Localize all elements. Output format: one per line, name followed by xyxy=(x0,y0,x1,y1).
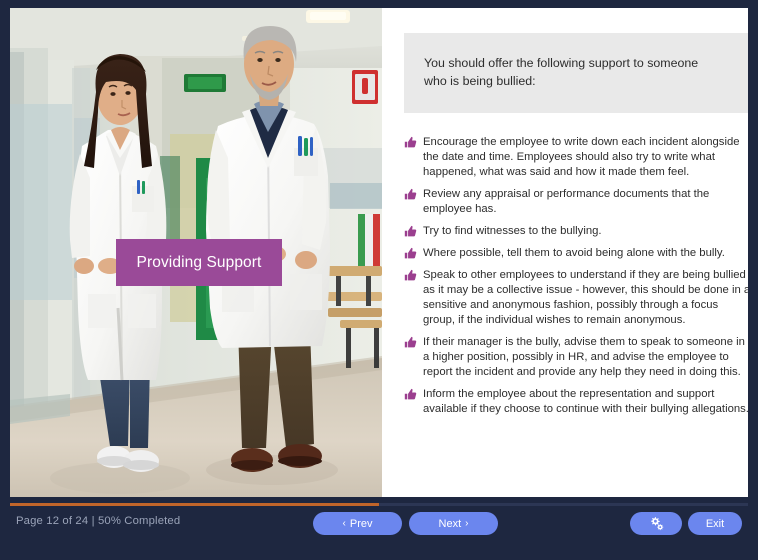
next-button[interactable]: Next › xyxy=(409,512,498,535)
heading-box: You should offer the following support t… xyxy=(404,33,748,113)
heading-text: You should offer the following support t… xyxy=(424,55,724,91)
thumbs-up-icon xyxy=(404,388,417,401)
list-item: Try to find witnesses to the bullying. xyxy=(404,224,748,239)
settings-button[interactable] xyxy=(630,512,682,535)
next-button-label: Next xyxy=(439,518,462,530)
list-item-text: Review any appraisal or performance docu… xyxy=(423,188,709,215)
slide-content: Providing Support You should offer the f… xyxy=(10,8,748,497)
exit-button[interactable]: Exit xyxy=(688,512,742,535)
list-item-text: Speak to other employees to understand i… xyxy=(423,269,748,326)
list-item: Where possible, tell them to avoid being… xyxy=(404,246,748,261)
slide-title-text: Providing Support xyxy=(137,254,262,272)
page-status-text: Page 12 of 24 | 50% Completed xyxy=(16,515,180,527)
thumbs-up-icon xyxy=(404,225,417,238)
exit-button-label: Exit xyxy=(706,518,724,530)
chevron-right-icon: › xyxy=(465,519,468,529)
chevron-left-icon: ‹ xyxy=(343,519,346,529)
list-item-text: Encourage the employee to write down eac… xyxy=(423,136,740,178)
thumbs-up-icon xyxy=(404,269,417,282)
thumbs-up-icon xyxy=(404,336,417,349)
list-item-text: If their manager is the bully, advise th… xyxy=(423,336,745,378)
thumbs-up-icon xyxy=(404,136,417,149)
slide-title-overlay: Providing Support xyxy=(116,239,282,286)
cogs-icon xyxy=(649,516,664,531)
prev-button[interactable]: ‹ Prev xyxy=(313,512,402,535)
list-item-text: Where possible, tell them to avoid being… xyxy=(423,247,725,259)
list-item: Speak to other employees to understand i… xyxy=(404,268,748,328)
list-item: Encourage the employee to write down eac… xyxy=(404,135,748,180)
thumbs-up-icon xyxy=(404,188,417,201)
thumbs-up-icon xyxy=(404,247,417,260)
course-slide: Providing Support You should offer the f… xyxy=(0,0,758,560)
slide-text-panel: You should offer the following support t… xyxy=(382,8,748,497)
prev-button-label: Prev xyxy=(350,518,373,530)
progress-bar-track xyxy=(10,503,748,506)
list-item: If their manager is the bully, advise th… xyxy=(404,335,748,380)
list-item: Review any appraisal or performance docu… xyxy=(404,187,748,217)
list-item-text: Try to find witnesses to the bullying. xyxy=(423,225,602,237)
support-bullet-list: Encourage the employee to write down eac… xyxy=(404,135,748,417)
list-item-text: Inform the employee about the representa… xyxy=(423,388,748,415)
progress-bar-fill xyxy=(10,503,379,506)
list-item: Inform the employee about the representa… xyxy=(404,387,748,417)
slide-image-panel: Providing Support xyxy=(10,8,382,497)
